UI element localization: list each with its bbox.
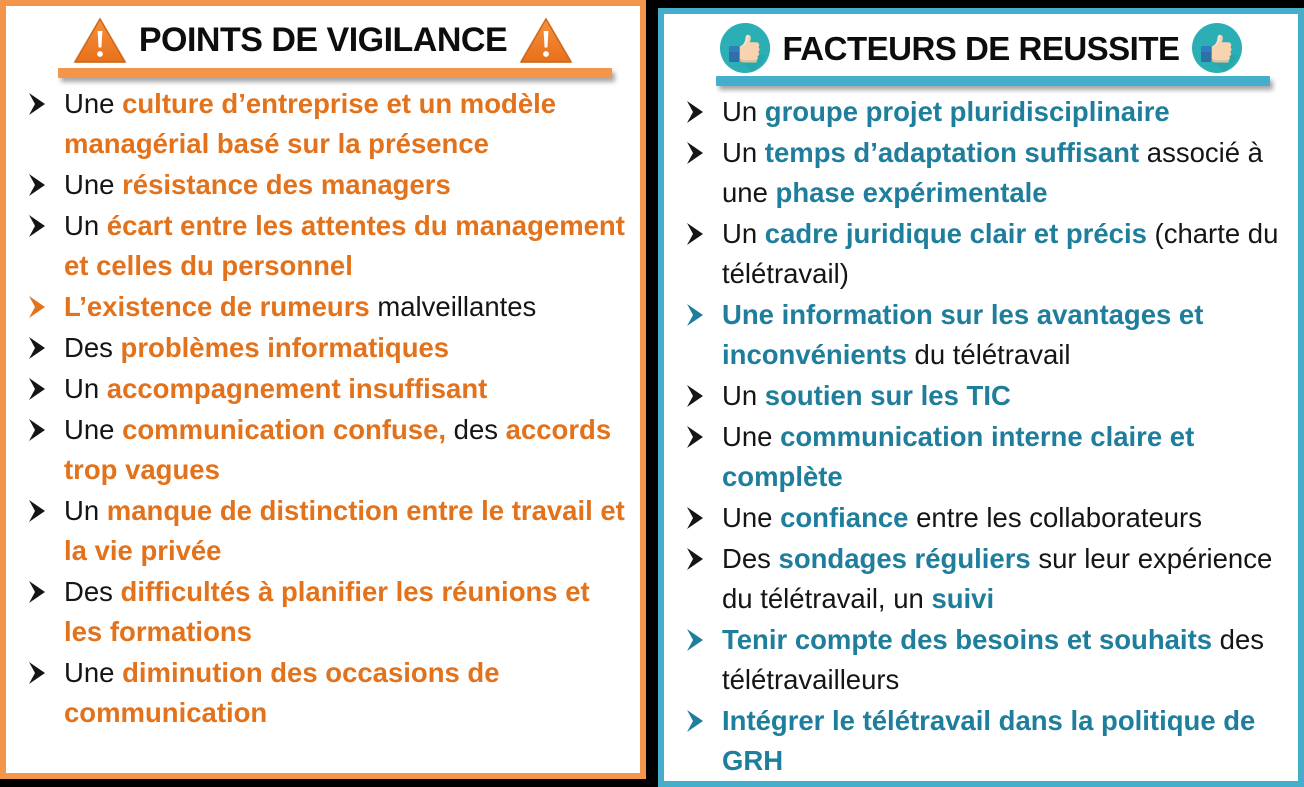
plain-text: Une xyxy=(722,421,780,452)
title-underline-right-wrap xyxy=(664,76,1298,86)
plain-text: Un xyxy=(64,495,107,526)
title-underline-bar xyxy=(58,68,612,78)
emphasis-text: temps d’adaptation suffisant xyxy=(765,137,1139,168)
plain-text: Une xyxy=(64,88,122,119)
emphasis-text: culture d’entreprise et un modèle managé… xyxy=(64,88,556,159)
emphasis-text: communication confuse, xyxy=(122,414,446,445)
emphasis-text: sondages réguliers xyxy=(779,543,1031,574)
list-item: Un manque de distinction entre le travai… xyxy=(12,491,632,571)
list-item: Une communication confuse, des accords t… xyxy=(12,410,632,490)
list-item: Un groupe projet pluridisciplinaire xyxy=(670,92,1290,132)
warning-triangle-icon xyxy=(517,14,575,66)
plain-text: Un xyxy=(722,137,765,168)
emphasis-text: cadre juridique clair et précis xyxy=(765,218,1147,249)
thumbs-up-icon xyxy=(1190,21,1244,75)
list-item: Un écart entre les attentes du managemen… xyxy=(12,206,632,286)
plain-text: Des xyxy=(64,332,121,363)
page-title-right: FACTEURS DE REUSSITE xyxy=(782,32,1179,65)
list-item: Des sondages réguliers sur leur expérien… xyxy=(670,539,1290,619)
plain-text: entre les collaborateurs xyxy=(908,502,1202,533)
panel-header-right: FACTEURS DE REUSSITE xyxy=(664,14,1298,76)
emphasis-text: Intégrer le télétravail dans la politiqu… xyxy=(722,705,1255,776)
list-item: Des difficultés à planifier les réunions… xyxy=(12,572,632,652)
list-item: Une diminution des occasions de communic… xyxy=(12,653,632,733)
emphasis-text: soutien sur les TIC xyxy=(765,380,1011,411)
bullet-list-right: Un groupe projet pluridisciplinaireUn te… xyxy=(664,86,1298,781)
list-item: Une confiance entre les collaborateurs xyxy=(670,498,1290,538)
list-item: Une information sur les avantages et inc… xyxy=(670,295,1290,375)
emphasis-text: communication interne claire et complète xyxy=(722,421,1194,492)
emphasis-text: écart entre les attentes du management e… xyxy=(64,210,625,281)
list-item: Une communication interne claire et comp… xyxy=(670,417,1290,497)
plain-text: Un xyxy=(722,218,765,249)
list-item: Un cadre juridique clair et précis (char… xyxy=(670,214,1290,294)
warning-triangle-icon xyxy=(71,14,129,66)
list-item: Une culture d’entreprise et un modèle ma… xyxy=(12,84,632,164)
emphasis-text: accompagnement insuffisant xyxy=(107,373,488,404)
plain-text: du télétravail xyxy=(907,339,1071,370)
list-item: Une résistance des managers xyxy=(12,165,632,205)
emphasis-text: confiance xyxy=(780,502,908,533)
panel-facteurs-de-reussite: FACTEURS DE REUSSITE Un groupe projet pl… xyxy=(658,8,1304,787)
plain-text: Des xyxy=(64,576,121,607)
plain-text: Une xyxy=(64,657,122,688)
emphasis-text: manque de distinction entre le travail e… xyxy=(64,495,625,566)
plain-text: Des xyxy=(722,543,779,574)
list-item: Un temps d’adaptation suffisant associé … xyxy=(670,133,1290,213)
emphasis-text: groupe projet pluridisciplinaire xyxy=(765,96,1170,127)
plain-text: Un xyxy=(722,96,765,127)
emphasis-text: phase expérimentale xyxy=(776,177,1048,208)
title-underline-left-wrap xyxy=(6,68,640,78)
comparison-board: POINTS DE VIGILANCE Une culture d’entrep… xyxy=(0,0,1304,787)
plain-text: Un xyxy=(722,380,765,411)
title-underline-bar xyxy=(716,76,1270,86)
plain-text: Un xyxy=(64,373,107,404)
panel-header-left: POINTS DE VIGILANCE xyxy=(6,6,640,68)
list-item: Des problèmes informatiques xyxy=(12,328,632,368)
emphasis-text: L’existence de rumeurs xyxy=(64,291,370,322)
list-item: Tenir compte des besoins et souhaits des… xyxy=(670,620,1290,700)
page-title-left: POINTS DE VIGILANCE xyxy=(139,23,507,57)
emphasis-text: Tenir compte des besoins et souhaits xyxy=(722,624,1212,655)
plain-text: Une xyxy=(64,414,122,445)
thumbs-up-icon xyxy=(718,21,772,75)
emphasis-text: suivi xyxy=(931,583,994,614)
plain-text: Une xyxy=(64,169,122,200)
plain-text: malveillantes xyxy=(370,291,537,322)
emphasis-text: difficultés à planifier les réunions et … xyxy=(64,576,590,647)
plain-text: Un xyxy=(64,210,107,241)
plain-text: des xyxy=(446,414,506,445)
list-item: Un soutien sur les TIC xyxy=(670,376,1290,416)
emphasis-text: diminution des occasions de communicatio… xyxy=(64,657,500,728)
panel-points-de-vigilance: POINTS DE VIGILANCE Une culture d’entrep… xyxy=(0,0,646,779)
plain-text: Une xyxy=(722,502,780,533)
list-item: Un accompagnement insuffisant xyxy=(12,369,632,409)
list-item: L’existence de rumeurs malveillantes xyxy=(12,287,632,327)
list-item: Intégrer le télétravail dans la politiqu… xyxy=(670,701,1290,781)
emphasis-text: résistance des managers xyxy=(122,169,451,200)
emphasis-text: problèmes informatiques xyxy=(121,332,450,363)
bullet-list-left: Une culture d’entreprise et un modèle ma… xyxy=(6,78,640,733)
